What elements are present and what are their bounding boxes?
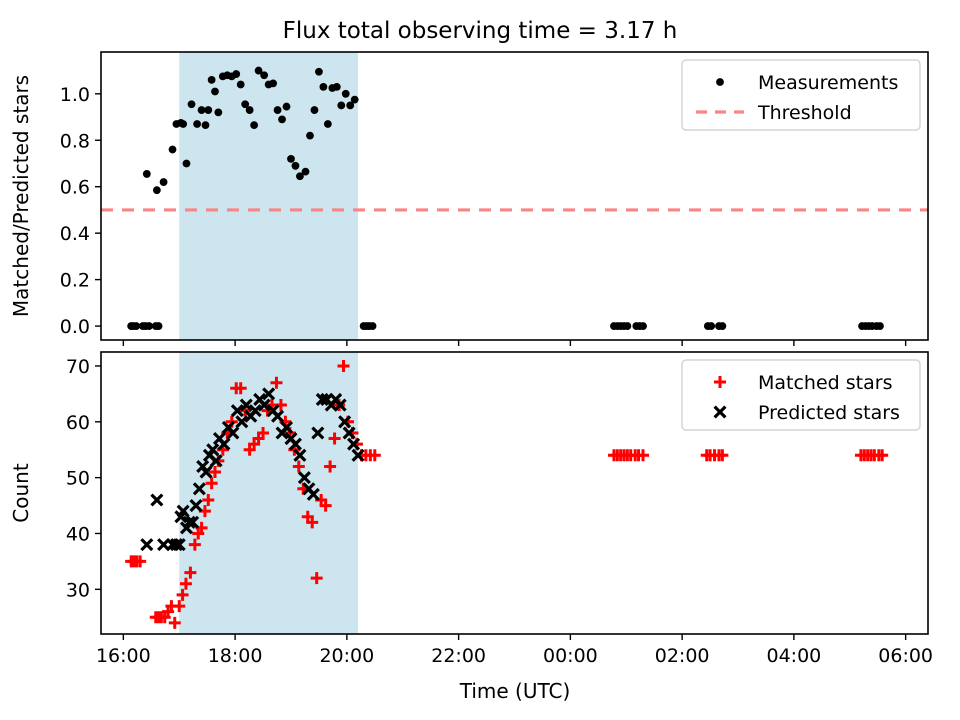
data-point — [302, 168, 310, 176]
data-point — [269, 79, 277, 87]
legend-label: Measurements — [758, 72, 898, 94]
plot-svg: Flux total observing time = 3.17 h 0.00.… — [0, 0, 960, 720]
y-tick-label: 0.2 — [60, 270, 90, 292]
y-tick-label: 70 — [66, 356, 90, 378]
data-point — [292, 162, 300, 170]
x-tick-label: 06:00 — [878, 645, 933, 667]
data-point — [179, 120, 187, 128]
y-axis-label: Matched/Predicted stars — [9, 75, 33, 317]
data-point — [306, 132, 314, 140]
data-point — [351, 96, 359, 104]
data-point — [333, 83, 341, 91]
data-point — [145, 322, 153, 330]
y-tick-label: 40 — [66, 523, 90, 545]
data-point — [337, 102, 345, 110]
y-tick-label: 1.0 — [60, 84, 90, 106]
x-tick-label: 16:00 — [96, 645, 151, 667]
x-tick-label: 04:00 — [767, 645, 822, 667]
y-axis-label: Count — [9, 463, 33, 523]
data-point — [876, 322, 884, 330]
data-point — [260, 71, 268, 79]
data-point — [153, 186, 161, 194]
page-title: Flux total observing time = 3.17 h — [283, 18, 678, 44]
data-point — [132, 322, 140, 330]
data-point — [639, 322, 647, 330]
data-point — [707, 322, 715, 330]
data-point — [718, 322, 726, 330]
shaded-observing-window — [179, 52, 358, 340]
figure-container: Flux total observing time = 3.17 h 0.00.… — [0, 0, 960, 720]
data-point — [204, 106, 212, 114]
data-point — [198, 106, 206, 114]
y-tick-label: 0.0 — [60, 316, 90, 338]
x-axis-label: Time (UTC) — [459, 679, 571, 703]
y-tick-label: 60 — [66, 412, 90, 434]
data-point — [283, 103, 291, 111]
data-point — [155, 322, 163, 330]
data-point — [211, 88, 219, 96]
y-tick-label: 0.8 — [60, 130, 90, 152]
x-tick-label: 00:00 — [543, 645, 598, 667]
data-point — [278, 115, 286, 123]
data-point — [342, 90, 350, 98]
y-tick-label: 30 — [66, 579, 90, 601]
x-tick-label: 22:00 — [431, 645, 486, 667]
data-point — [287, 155, 295, 163]
data-point — [208, 76, 216, 84]
x-tick-label: 20:00 — [319, 645, 374, 667]
y-tick-label: 50 — [66, 468, 90, 490]
data-point — [246, 106, 254, 114]
data-point — [623, 322, 631, 330]
data-point — [169, 146, 177, 154]
legend-label: Predicted stars — [758, 402, 900, 424]
data-point — [237, 81, 245, 89]
data-point — [188, 100, 196, 108]
x-tick-label: 02:00 — [655, 645, 710, 667]
data-point — [143, 170, 151, 178]
data-point — [193, 120, 201, 128]
data-point — [183, 160, 191, 168]
legend-label: Matched stars — [758, 372, 892, 394]
y-tick-label: 0.6 — [60, 177, 90, 199]
y-tick-label: 0.4 — [60, 223, 90, 245]
data-point — [315, 68, 323, 76]
data-point — [311, 106, 319, 114]
legend-dot-icon — [716, 78, 724, 86]
legend-label: Threshold — [757, 102, 852, 124]
data-point — [324, 120, 332, 128]
data-point — [202, 121, 210, 129]
data-point — [214, 108, 222, 116]
data-point — [250, 121, 258, 129]
data-point — [160, 178, 168, 186]
data-point — [319, 83, 327, 91]
data-point — [232, 70, 240, 78]
x-tick-label: 18:00 — [208, 645, 263, 667]
data-point — [274, 106, 282, 114]
data-point — [369, 322, 377, 330]
